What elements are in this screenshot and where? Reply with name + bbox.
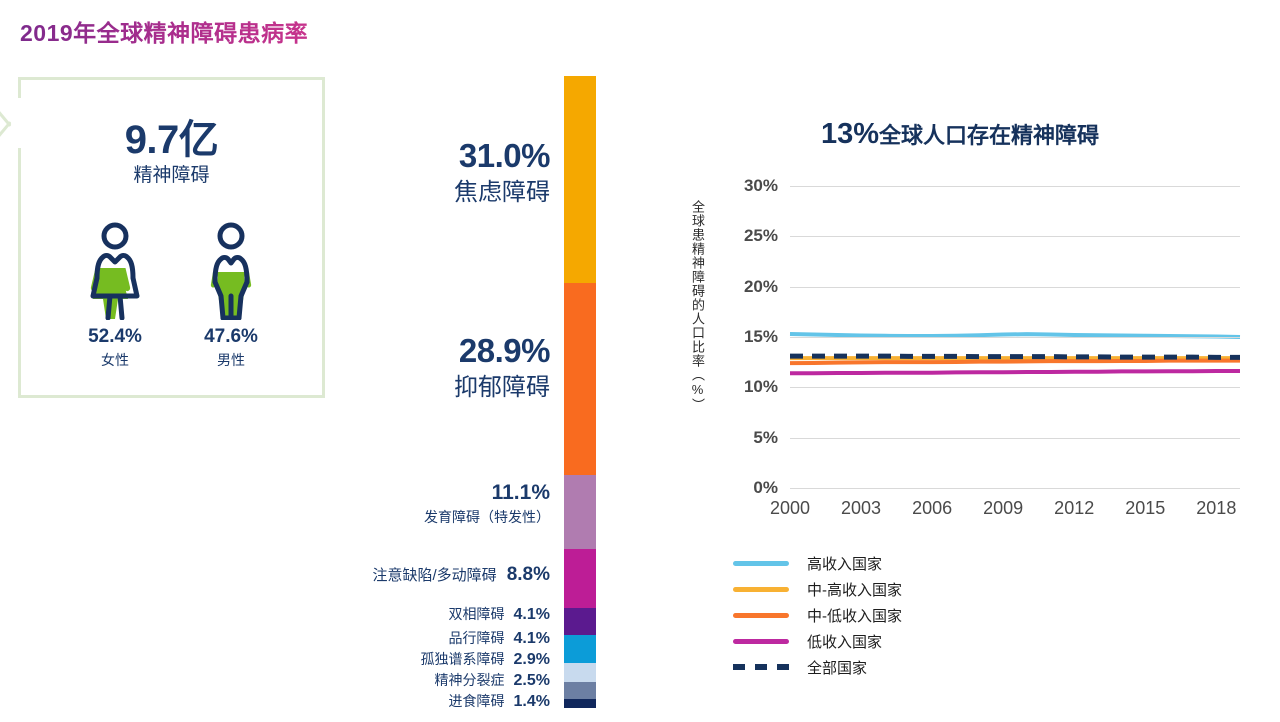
bar-segment xyxy=(564,608,596,635)
legend-swatch xyxy=(733,613,789,618)
bar-label: 31.0%焦虑障碍 xyxy=(454,135,564,208)
chart-x-tick: 2015 xyxy=(1125,498,1165,519)
chart-plot-area: 30%25%20%15%10%5%0%200020032006200920122… xyxy=(790,186,1240,488)
chart-gridline xyxy=(790,488,1240,489)
bar-segment xyxy=(564,549,596,608)
bar-label-name: 注意缺陷/多动障碍 xyxy=(373,567,497,584)
stat-card-subtitle: 精神障碍 xyxy=(21,160,322,187)
bar-label-percent: 8.8% xyxy=(507,564,550,585)
bar-segment xyxy=(564,663,596,682)
legend-label: 全部国家 xyxy=(807,657,867,678)
bar-label-percent: 31.0% xyxy=(454,135,550,176)
female-person-icon xyxy=(77,220,153,320)
female-label: 女性 xyxy=(55,350,175,370)
bar-label-name: 双相障碍 xyxy=(449,606,505,622)
page-title: 2019年全球精神障碍患病率 xyxy=(20,14,308,48)
chart-gridline xyxy=(790,236,1240,237)
legend-swatch xyxy=(733,561,789,566)
legend-item[interactable]: 低收入国家 xyxy=(733,628,1063,654)
legend-item[interactable]: 中-低收入国家 xyxy=(733,602,1063,628)
stat-card: 9.7亿 精神障碍 52.4% 女性 xyxy=(18,77,325,398)
bar-label-percent: 1.4% xyxy=(514,693,550,710)
male-person-icon xyxy=(193,220,269,320)
bar-label-name: 焦虑障碍 xyxy=(454,178,550,208)
chart-y-tick: 15% xyxy=(744,327,778,347)
male-percent: 47.6% xyxy=(171,326,291,348)
bar-label: 品行障碍4.1% xyxy=(449,629,564,649)
male-label: 男性 xyxy=(171,350,291,370)
female-stat-group: 52.4% 女性 xyxy=(55,220,175,370)
bar-label-name: 发育障碍（特发性） xyxy=(424,509,550,527)
bar-label: 孤独谱系障碍2.9% xyxy=(421,650,564,670)
bar-label-percent: 2.9% xyxy=(514,651,550,668)
bar-label-name: 精神分裂症 xyxy=(435,672,505,688)
chart-y-tick: 30% xyxy=(744,176,778,196)
bar-label-name: 品行障碍 xyxy=(449,630,505,646)
chart-x-tick: 2018 xyxy=(1196,498,1236,519)
chart-legend: 高收入国家中-高收入国家中-低收入国家低收入国家全部国家 xyxy=(733,550,1063,680)
chart-series-line xyxy=(790,371,1240,373)
legend-label: 高收入国家 xyxy=(807,553,882,574)
chart-title: 13%全球人口存在精神障碍 xyxy=(660,118,1260,151)
bar-label: 28.9%抑郁障碍 xyxy=(454,330,564,403)
chart-y-tick: 10% xyxy=(744,377,778,397)
bar-segment xyxy=(564,283,596,476)
card-notch-mask xyxy=(16,98,22,148)
chart-x-tick: 2003 xyxy=(841,498,881,519)
chart-x-tick: 2000 xyxy=(770,498,810,519)
legend-item[interactable]: 中-高收入国家 xyxy=(733,576,1063,602)
bar-label-percent: 4.1% xyxy=(514,630,550,647)
bar-label-percent: 4.1% xyxy=(514,606,550,623)
stat-card-big-number: 9.7亿 xyxy=(21,107,322,165)
bar-label: 精神分裂症2.5% xyxy=(435,671,564,691)
chart-gridline xyxy=(790,337,1240,338)
bar-label-percent: 28.9% xyxy=(454,330,550,371)
bar-segment xyxy=(564,635,596,662)
legend-swatch xyxy=(733,639,789,644)
chart-series-line xyxy=(790,356,1240,357)
chart-y-tick: 0% xyxy=(753,478,778,498)
male-stat-group: 47.6% 男性 xyxy=(171,220,291,370)
chart-title-big: 13% xyxy=(821,118,879,150)
bar-label-name: 进食障碍 xyxy=(449,693,505,709)
legend-item[interactable]: 全部国家 xyxy=(733,654,1063,680)
chart-gridline xyxy=(790,186,1240,187)
bar-segment xyxy=(564,699,596,708)
chart-y-tick: 25% xyxy=(744,226,778,246)
chart-x-tick: 2009 xyxy=(983,498,1023,519)
chart-x-tick: 2006 xyxy=(912,498,952,519)
chart-gridline xyxy=(790,387,1240,388)
prevalence-trend-chart: 13%全球人口存在精神障碍 全球患精神障碍的人口比率（%） 30%25%20%1… xyxy=(660,110,1260,710)
bar-label: 进食障碍1.4% xyxy=(449,692,564,712)
bar-label-name: 孤独谱系障碍 xyxy=(421,651,505,667)
female-percent: 52.4% xyxy=(55,326,175,348)
legend-item[interactable]: 高收入国家 xyxy=(733,550,1063,576)
bar-label-percent: 11.1% xyxy=(424,480,550,506)
chart-gridline xyxy=(790,438,1240,439)
bar-segment xyxy=(564,682,596,699)
bar-segment xyxy=(564,76,596,283)
chart-title-rest: 全球人口存在精神障碍 xyxy=(879,123,1099,148)
bar-label: 注意缺陷/多动障碍8.8% xyxy=(373,563,564,587)
legend-label: 低收入国家 xyxy=(807,631,882,652)
chart-x-tick: 2012 xyxy=(1054,498,1094,519)
legend-swatch xyxy=(733,664,789,670)
bar-label: 双相障碍4.1% xyxy=(449,605,564,625)
chart-series-line xyxy=(790,361,1240,364)
disorder-breakdown-bar xyxy=(564,76,596,708)
legend-label: 中-低收入国家 xyxy=(807,605,902,626)
legend-label: 中-高收入国家 xyxy=(807,579,902,600)
chart-y-axis-label: 全球患精神障碍的人口比率（%） xyxy=(682,200,704,412)
bar-segment xyxy=(564,475,596,549)
legend-swatch xyxy=(733,587,789,592)
bar-label-name: 抑郁障碍 xyxy=(454,373,550,403)
bar-label: 11.1%发育障碍（特发性） xyxy=(424,480,564,527)
chart-y-tick: 5% xyxy=(753,428,778,448)
chart-y-tick: 20% xyxy=(744,277,778,297)
chart-gridline xyxy=(790,287,1240,288)
bar-label-percent: 2.5% xyxy=(514,672,550,689)
